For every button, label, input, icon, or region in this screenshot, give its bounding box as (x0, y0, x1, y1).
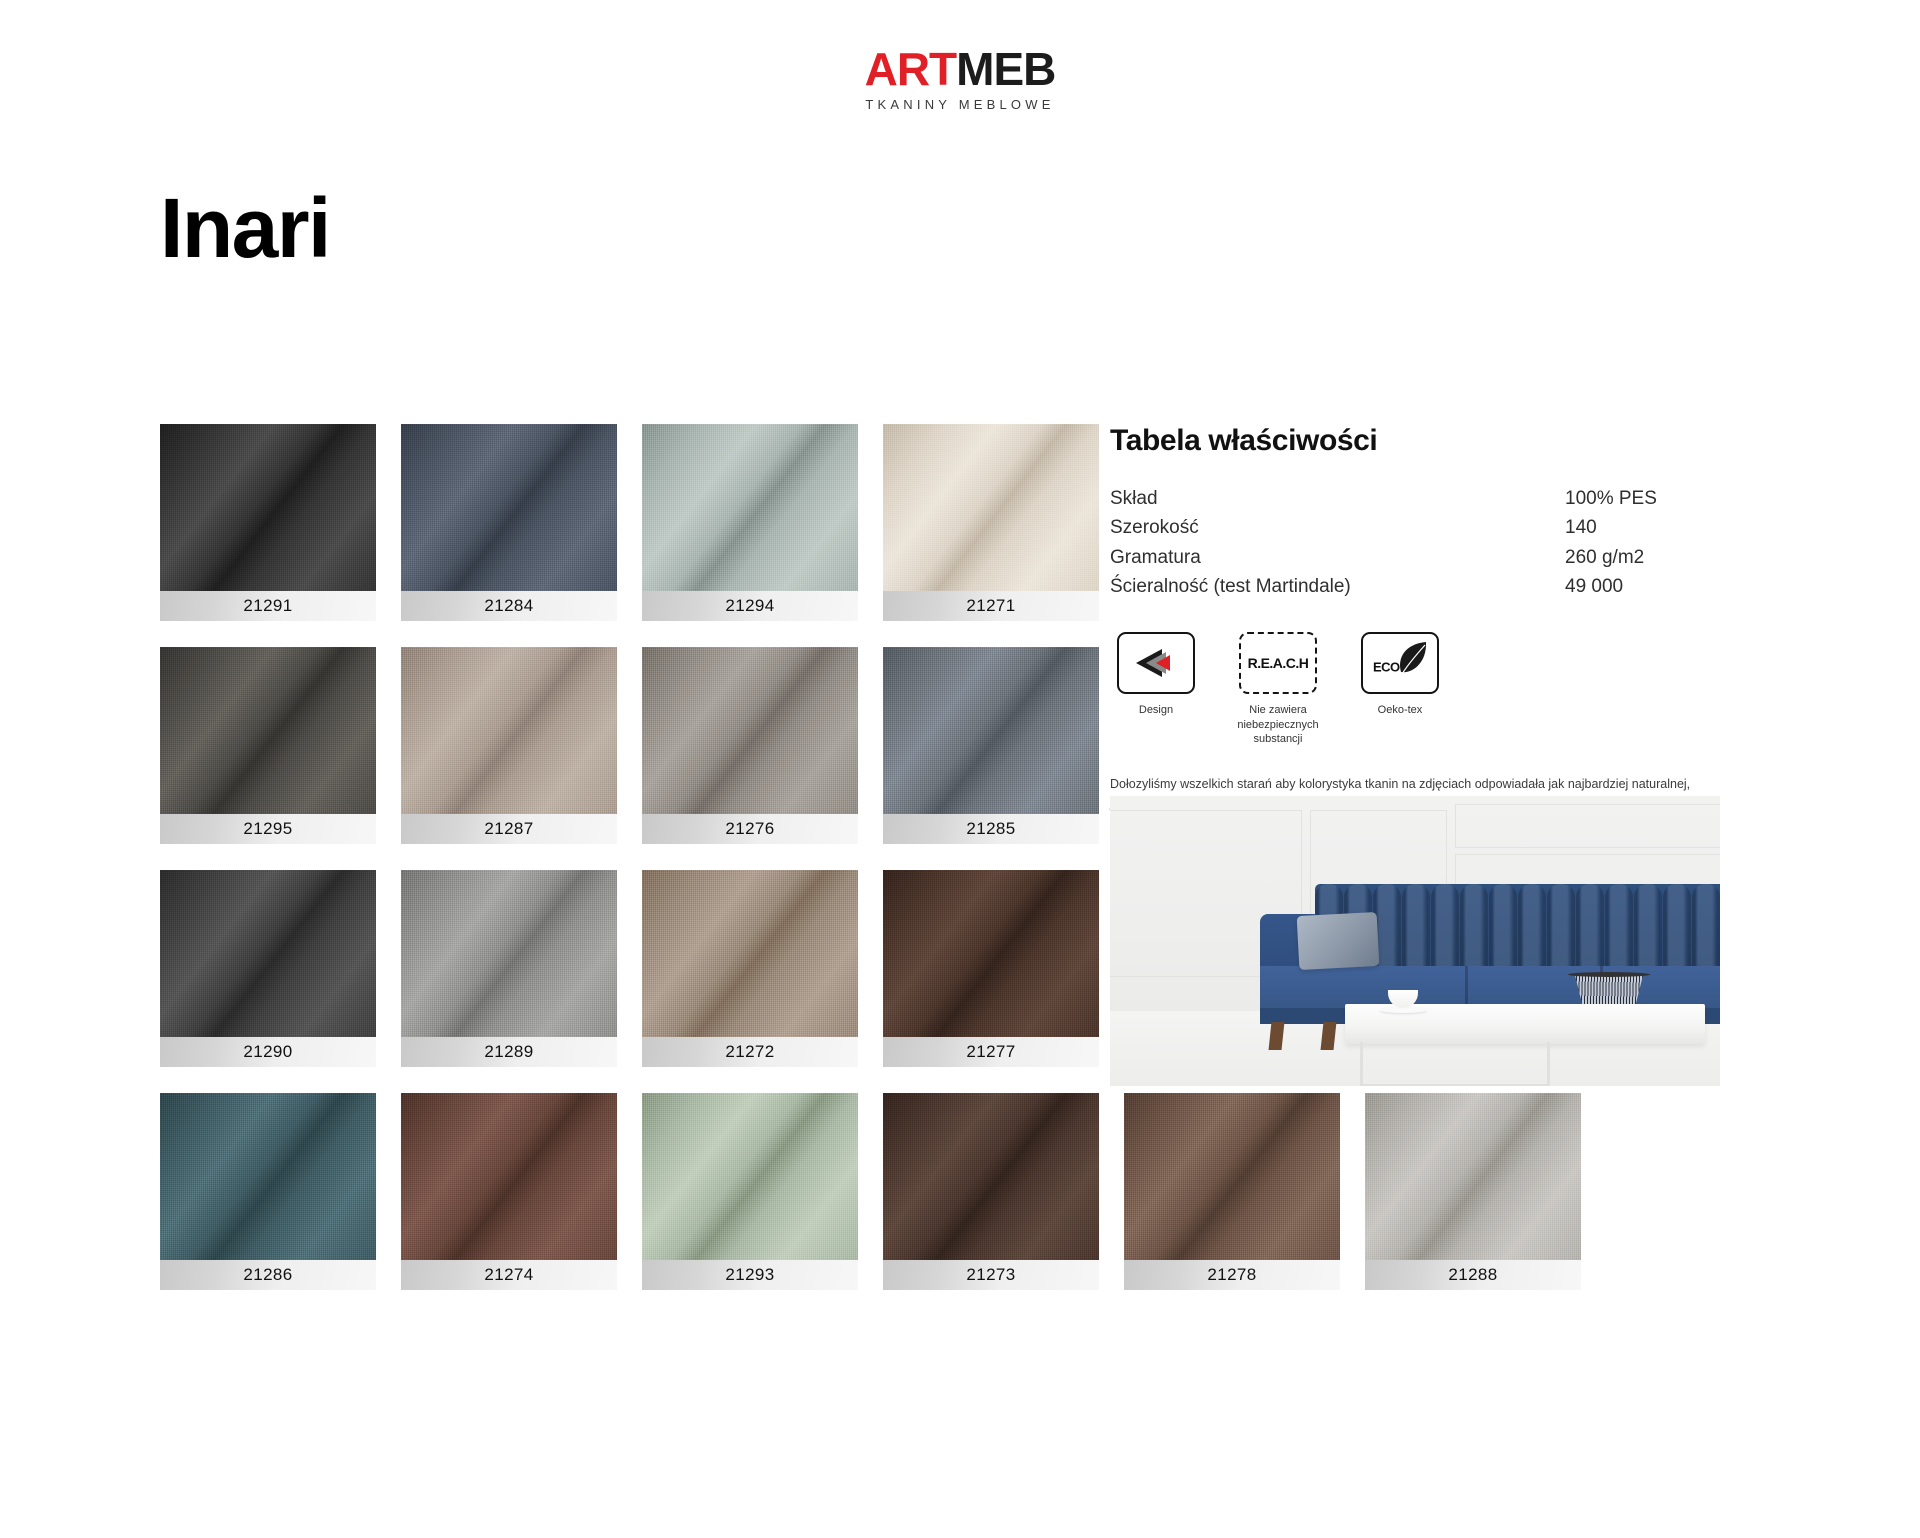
certification-badge: R.E.A.C.HNie zawiera niebezpiecznych sub… (1232, 632, 1324, 748)
fabric-swatch[interactable]: 21272 (642, 870, 858, 1067)
page-title: Inari (160, 186, 330, 270)
sofa-tuft (1547, 884, 1575, 974)
design-arrow-icon (1117, 632, 1195, 694)
table-leg (1547, 1042, 1550, 1086)
brand-name-art: ART (865, 43, 957, 95)
fabric-swatch[interactable]: 21271 (883, 424, 1099, 621)
fabric-swatch-image (1124, 1093, 1340, 1260)
fabric-swatch[interactable]: 21276 (642, 647, 858, 844)
fabric-code-label: 21287 (401, 814, 617, 844)
fabric-weave-texture (401, 647, 617, 814)
fabric-code-label: 21289 (401, 1037, 617, 1067)
fabric-swatch[interactable]: 21273 (883, 1093, 1099, 1290)
fabric-weave-texture (1124, 1093, 1340, 1260)
fabric-code-label: 21276 (642, 814, 858, 844)
sofa-tuft (1402, 884, 1430, 974)
fabric-swatch[interactable]: 21285 (883, 647, 1099, 844)
sofa-tuft (1489, 884, 1517, 974)
fabric-weave-texture (883, 870, 1099, 1037)
fabric-swatch[interactable]: 21274 (401, 1093, 617, 1290)
fabric-code-label: 21272 (642, 1037, 858, 1067)
property-row: Szerokość140 (1110, 513, 1730, 542)
fabric-weave-texture (160, 870, 376, 1037)
sofa-tuft (1634, 884, 1662, 974)
fabric-code-label: 21288 (1365, 1260, 1581, 1290)
fabric-code-label: 21293 (642, 1260, 858, 1290)
fabric-swatch-image (883, 647, 1099, 814)
fabric-code-label: 21285 (883, 814, 1099, 844)
fabric-code-label: 21290 (160, 1037, 376, 1067)
reach-label: R.E.A.C.H (1248, 655, 1309, 671)
fabric-code-label: 21294 (642, 591, 858, 621)
sofa-tuft (1576, 884, 1604, 974)
fabric-swatch-image (642, 1093, 858, 1260)
fabric-swatch[interactable]: 21277 (883, 870, 1099, 1067)
fabric-weave-texture (883, 424, 1099, 591)
sofa-tuft (1605, 884, 1633, 974)
sofa-tuft (1460, 884, 1488, 974)
brand-name-meb: MEB (956, 43, 1055, 95)
property-key: Ścieralność (test Martindale) (1110, 572, 1565, 601)
fabric-swatch-image (401, 424, 617, 591)
property-value: 260 g/m2 (1565, 543, 1730, 572)
table-rail (1360, 1084, 1550, 1086)
fabric-swatch[interactable]: 21295 (160, 647, 376, 844)
fabric-swatch[interactable]: 21290 (160, 870, 376, 1067)
fabric-code-label: 21271 (883, 591, 1099, 621)
fabric-swatch-image (160, 424, 376, 591)
brand-logo: ARTMEB TKANINY MEBLOWE (0, 46, 1920, 112)
wall-panel-upper-right (1455, 804, 1720, 848)
property-value: 140 (1565, 513, 1730, 542)
fabric-weave-texture (401, 424, 617, 591)
reach-icon: R.E.A.C.H (1239, 632, 1317, 694)
fabric-weave-texture (160, 1093, 376, 1260)
certification-badge: ECOOeko-tex (1354, 632, 1446, 748)
fabric-weave-texture (160, 424, 376, 591)
fabric-code-label: 21284 (401, 591, 617, 621)
fabric-weave-texture (642, 870, 858, 1037)
fabric-swatch[interactable]: 21284 (401, 424, 617, 621)
fabric-swatch-image (642, 647, 858, 814)
sofa-tuft (1663, 884, 1691, 974)
fabric-weave-texture (160, 647, 376, 814)
fabric-weave-texture (401, 870, 617, 1037)
sofa-tuft (1692, 884, 1720, 974)
fabric-swatch-image (160, 647, 376, 814)
fabric-swatch[interactable]: 21286 (160, 1093, 376, 1290)
sofa-tuft (1518, 884, 1546, 974)
fabric-code-label: 21278 (1124, 1260, 1340, 1290)
fabric-swatch-image (883, 870, 1099, 1037)
brand-tagline: TKANINY MEBLOWE (0, 97, 1920, 112)
fabric-code-label: 21273 (883, 1260, 1099, 1290)
fabric-swatch[interactable]: 21293 (642, 1093, 858, 1290)
fabric-weave-texture (1365, 1093, 1581, 1260)
property-row: Ścieralność (test Martindale)49 000 (1110, 572, 1730, 601)
fabric-weave-texture (642, 647, 858, 814)
badge-caption: Design (1110, 703, 1202, 718)
fabric-swatch-image (883, 424, 1099, 591)
properties-table: Skład100% PESSzerokość140Gramatura260 g/… (1110, 484, 1730, 602)
fabric-code-label: 21274 (401, 1260, 617, 1290)
fabric-swatch-image (1365, 1093, 1581, 1260)
fabric-code-label: 21295 (160, 814, 376, 844)
property-row: Skład100% PES (1110, 484, 1730, 513)
room-scene-photo (1110, 796, 1720, 1086)
table-leg (1360, 1042, 1363, 1086)
fabric-swatch-image (642, 424, 858, 591)
fabric-swatch-image (160, 870, 376, 1037)
fabric-swatch-image (401, 1093, 617, 1260)
fabric-swatch[interactable]: 21278 (1124, 1093, 1340, 1290)
catalog-page: ARTMEB TKANINY MEBLOWE Inari 21291212842… (0, 0, 1920, 1538)
property-key: Szerokość (1110, 513, 1565, 542)
property-value: 100% PES (1565, 484, 1730, 513)
property-key: Skład (1110, 484, 1565, 513)
fabric-swatch[interactable]: 21291 (160, 424, 376, 621)
fabric-code-label: 21286 (160, 1260, 376, 1290)
badge-caption: Nie zawiera niebezpiecznych substancji (1232, 703, 1324, 748)
certification-badges: DesignR.E.A.C.HNie zawiera niebezpieczny… (1110, 632, 1730, 748)
fabric-weave-texture (883, 647, 1099, 814)
swatch-row: 212862127421293212732127821288 (160, 1093, 1560, 1290)
fabric-swatch[interactable]: 21287 (401, 647, 617, 844)
fabric-swatch-image (883, 1093, 1099, 1260)
fabric-swatch[interactable]: 21288 (1365, 1093, 1581, 1290)
fabric-code-label: 21277 (883, 1037, 1099, 1067)
properties-heading: Tabela właściwości (1110, 424, 1730, 458)
fabric-swatch-image (642, 870, 858, 1037)
sofa-tuft (1431, 884, 1459, 974)
wire-basket-rim (1568, 972, 1650, 977)
fabric-swatch[interactable]: 21294 (642, 424, 858, 621)
fabric-code-label: 21291 (160, 591, 376, 621)
design-arrow-glyph (1132, 646, 1180, 680)
eco-leaf-icon: ECO (1361, 632, 1439, 694)
throw-pillow (1297, 912, 1380, 970)
leaf-glyph (1393, 638, 1433, 682)
fabric-swatch-image (401, 647, 617, 814)
fabric-swatch[interactable]: 21289 (401, 870, 617, 1067)
fabric-swatch-image (160, 1093, 376, 1260)
fabric-weave-texture (883, 1093, 1099, 1260)
brand-wordmark: ARTMEB (0, 46, 1920, 92)
badge-caption: Oeko-tex (1354, 703, 1446, 718)
property-value: 49 000 (1565, 572, 1730, 601)
fabric-weave-texture (642, 424, 858, 591)
fabric-weave-texture (401, 1093, 617, 1260)
property-key: Gramatura (1110, 543, 1565, 572)
certification-badge: Design (1110, 632, 1202, 748)
fabric-weave-texture (642, 1093, 858, 1260)
fabric-swatch-image (401, 870, 617, 1037)
property-row: Gramatura260 g/m2 (1110, 543, 1730, 572)
